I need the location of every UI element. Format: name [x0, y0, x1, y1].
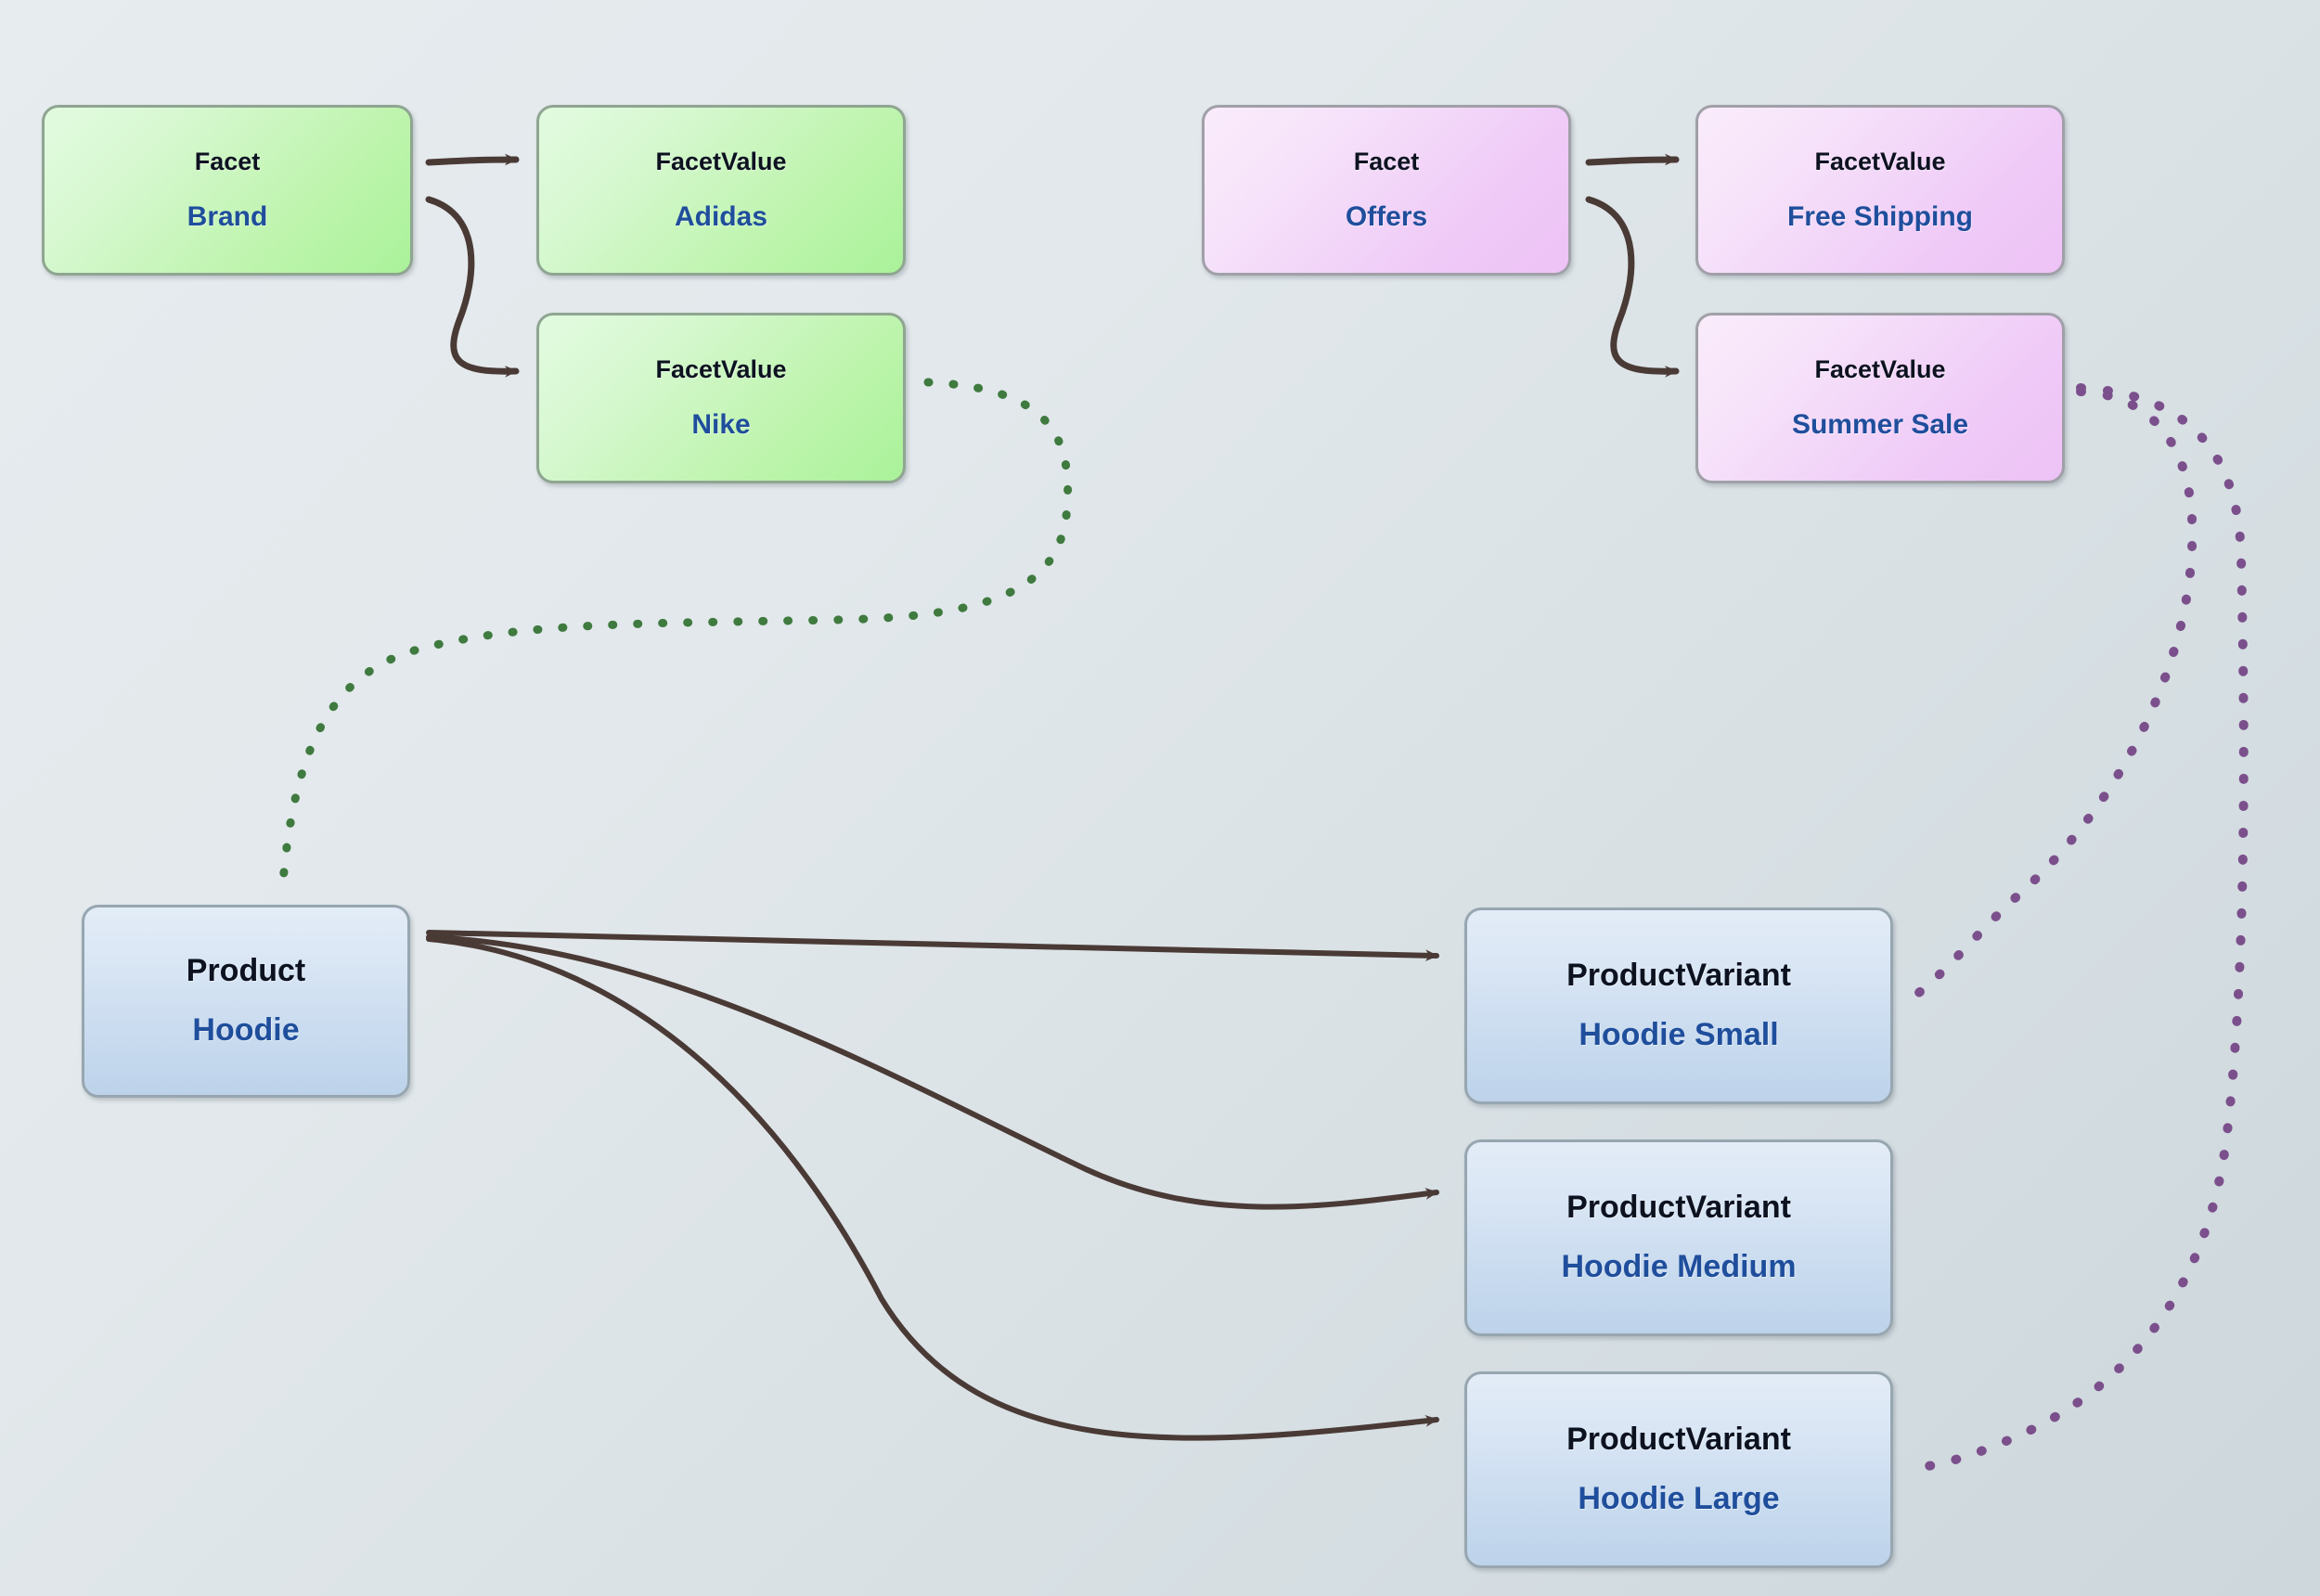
node-variant-hoodie-large[interactable]: ProductVariant Hoodie Large	[1464, 1371, 1893, 1568]
node-product-hoodie[interactable]: Product Hoodie	[82, 905, 410, 1098]
edge-brand-to-adidas	[429, 160, 516, 162]
node-value-label: Summer Sale	[1792, 410, 1968, 440]
edge-product-to-variant-medium	[429, 937, 1437, 1207]
node-type-label: FacetValue	[1814, 356, 1945, 382]
node-type-label: Facet	[195, 148, 261, 174]
edge-product-to-variant-large	[429, 939, 1437, 1438]
edge-product-to-variant-small	[429, 933, 1437, 956]
node-variant-hoodie-small[interactable]: ProductVariant Hoodie Small	[1464, 907, 1893, 1104]
node-type-label: Product	[187, 955, 305, 988]
diagram-canvas: Facet Brand FacetValue Adidas FacetValue…	[0, 0, 2320, 1596]
node-value-label: Hoodie Large	[1578, 1483, 1779, 1516]
node-value-label: Brand	[187, 202, 268, 232]
node-facetvalue-nike[interactable]: FacetValue Nike	[536, 313, 906, 483]
node-variant-hoodie-medium[interactable]: ProductVariant Hoodie Medium	[1464, 1139, 1893, 1336]
edge-summer-sale-to-variant-large-dotted	[1916, 388, 2244, 1468]
node-facet-brand[interactable]: Facet Brand	[42, 105, 413, 276]
node-type-label: FacetValue	[655, 356, 786, 382]
node-value-label: Hoodie Medium	[1561, 1251, 1796, 1284]
edge-brand-to-nike	[429, 199, 516, 371]
node-type-label: FacetValue	[1814, 148, 1945, 174]
node-facetvalue-adidas[interactable]: FacetValue Adidas	[536, 105, 906, 276]
node-value-label: Offers	[1346, 202, 1427, 232]
edge-offers-to-free-shipping	[1589, 160, 1676, 162]
node-value-label: Nike	[691, 410, 750, 440]
node-type-label: ProductVariant	[1566, 1191, 1791, 1225]
node-value-label: Free Shipping	[1787, 202, 1973, 232]
node-type-label: FacetValue	[655, 148, 786, 174]
edge-offers-to-summer-sale	[1589, 199, 1676, 371]
node-value-label: Adidas	[675, 202, 767, 232]
node-type-label: ProductVariant	[1566, 959, 1791, 993]
node-facetvalue-summer-sale[interactable]: FacetValue Summer Sale	[1695, 313, 2065, 483]
node-facet-offers[interactable]: Facet Offers	[1202, 105, 1571, 276]
node-type-label: Facet	[1354, 148, 1420, 174]
node-value-label: Hoodie	[192, 1014, 299, 1048]
node-facetvalue-free-shipping[interactable]: FacetValue Free Shipping	[1695, 105, 2065, 276]
node-value-label: Hoodie Small	[1579, 1019, 1778, 1052]
node-type-label: ProductVariant	[1566, 1423, 1791, 1457]
